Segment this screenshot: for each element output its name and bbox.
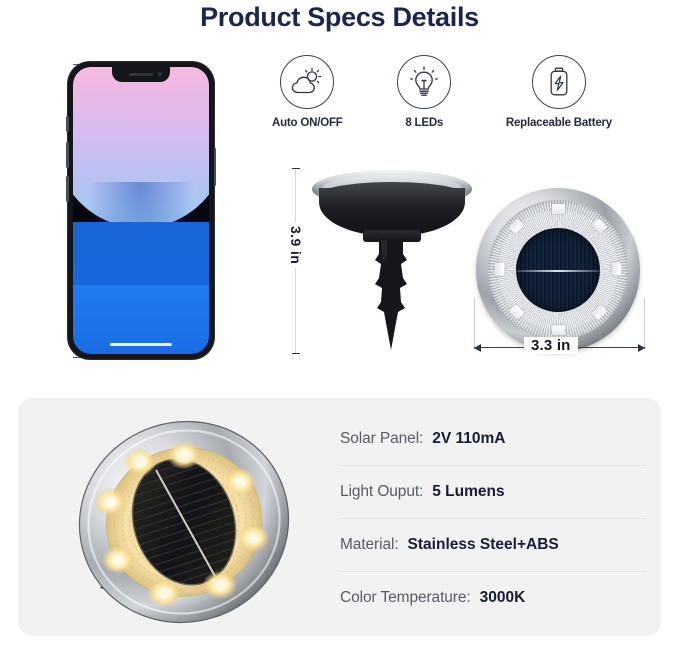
light-height-dimension-label: 3.9 in [288,222,304,268]
battery-bolt-icon [532,55,586,109]
led-chip [552,204,565,214]
feature-replaceable-battery: Replaceable Battery [506,55,612,129]
spec-value: Stainless Steel+ABS [408,536,559,554]
light-disc [476,188,640,352]
dimension-tick-right [644,298,645,350]
led-chip [612,263,622,276]
spec-label: Material: [340,536,399,554]
feature-label: Auto ON/OFF [272,117,343,129]
dimension-tick-left [474,298,475,350]
ground-spike [374,238,408,350]
feature-auto-on-off: Auto ON/OFF [272,55,343,129]
light-side-view: 3.9 in [292,160,482,365]
page-title: Product Specs Details [0,2,679,33]
led-chip [495,263,505,276]
lit-product-illustration [60,410,300,630]
spec-label: Solar Panel: [340,430,423,448]
spec-label: Light Ouput: [340,483,423,501]
phone-illustration [68,62,214,359]
solar-panel [516,228,600,312]
feature-label: Replaceable Battery [506,117,612,129]
feature-8-leds: 8 LEDs [397,55,451,129]
cloud-sun-icon [280,55,334,109]
spec-row-material: Material: Stainless Steel+ABS [322,518,652,571]
spec-label: Color Temperature: [340,589,471,607]
light-body [319,188,465,236]
spec-value: 2V 110mA [432,430,505,448]
spec-table: Solar Panel: 2V 110mA Light Ouput: 5 Lum… [322,412,652,624]
phone-screen [73,67,209,354]
spec-value: 3000K [480,589,526,607]
light-diameter-dimension-label: 3.3 in [524,337,578,354]
feature-label: 8 LEDs [405,117,443,129]
spec-value: 5 Lumens [432,483,504,501]
spec-row-light-output: Light Ouput: 5 Lumens [322,465,652,518]
spec-row-solar-panel: Solar Panel: 2V 110mA [322,412,652,465]
light-bulb-icon [397,55,451,109]
spec-row-color-temperature: Color Temperature: 3000K [322,571,652,624]
feature-icon-row: Auto ON/OFF 8 LEDs [272,55,612,135]
phone-size-reference: 5.9 in [52,62,232,362]
led-chip [552,325,565,335]
light-top-view: 3.3 in [470,188,650,368]
product-specs-infographic: Product Specs Details Auto ON/OFF [0,0,679,650]
